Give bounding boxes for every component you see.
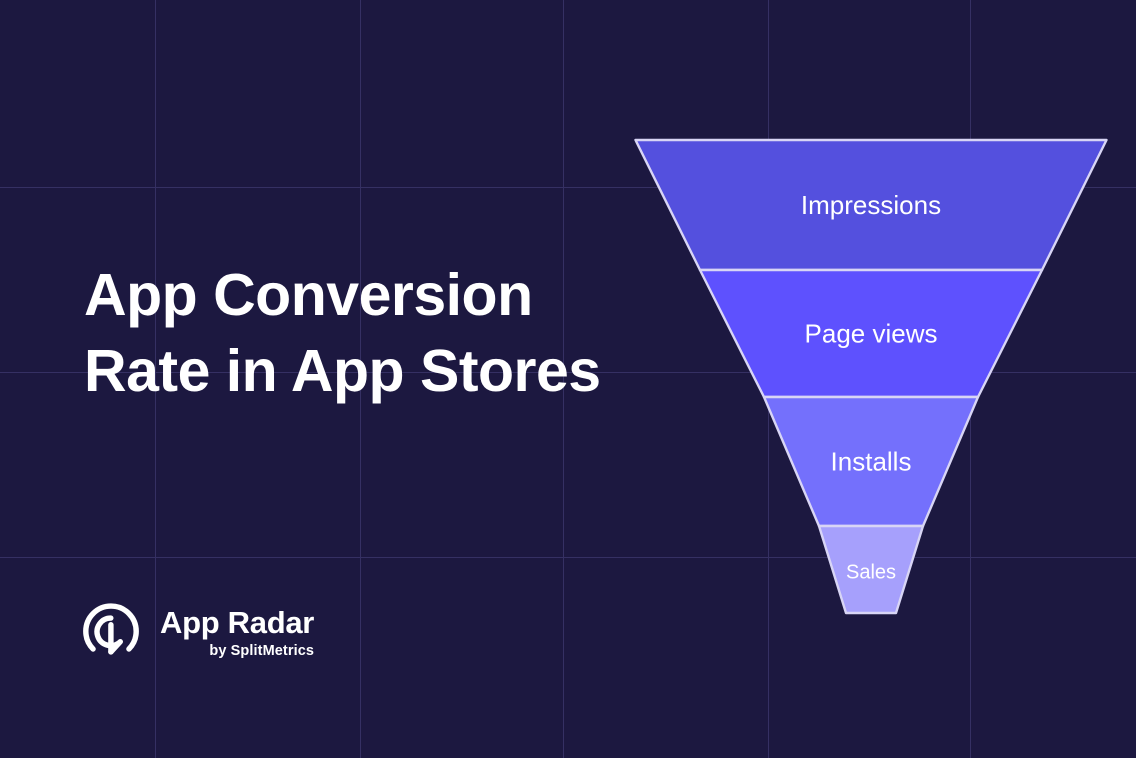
page-title: App Conversion Rate in App Stores	[84, 258, 704, 409]
brand-name: App Radar	[160, 607, 314, 640]
conversion-funnel-chart: ImpressionsPage viewsInstallsSales	[628, 132, 1116, 624]
funnel-label-page-views: Page views	[805, 319, 938, 349]
funnel-label-impressions: Impressions	[801, 190, 941, 220]
funnel-label-installs: Installs	[831, 447, 912, 477]
poster-canvas: App Conversion Rate in App Stores App Ra…	[0, 0, 1136, 758]
app-radar-logo-icon	[80, 602, 142, 664]
brand-tagline: by SplitMetrics	[209, 643, 314, 659]
brand-logo: App Radar by SplitMetrics	[80, 602, 314, 664]
funnel-label-sales: Sales	[846, 562, 896, 584]
brand-wordmark: App Radar by SplitMetrics	[160, 607, 314, 659]
